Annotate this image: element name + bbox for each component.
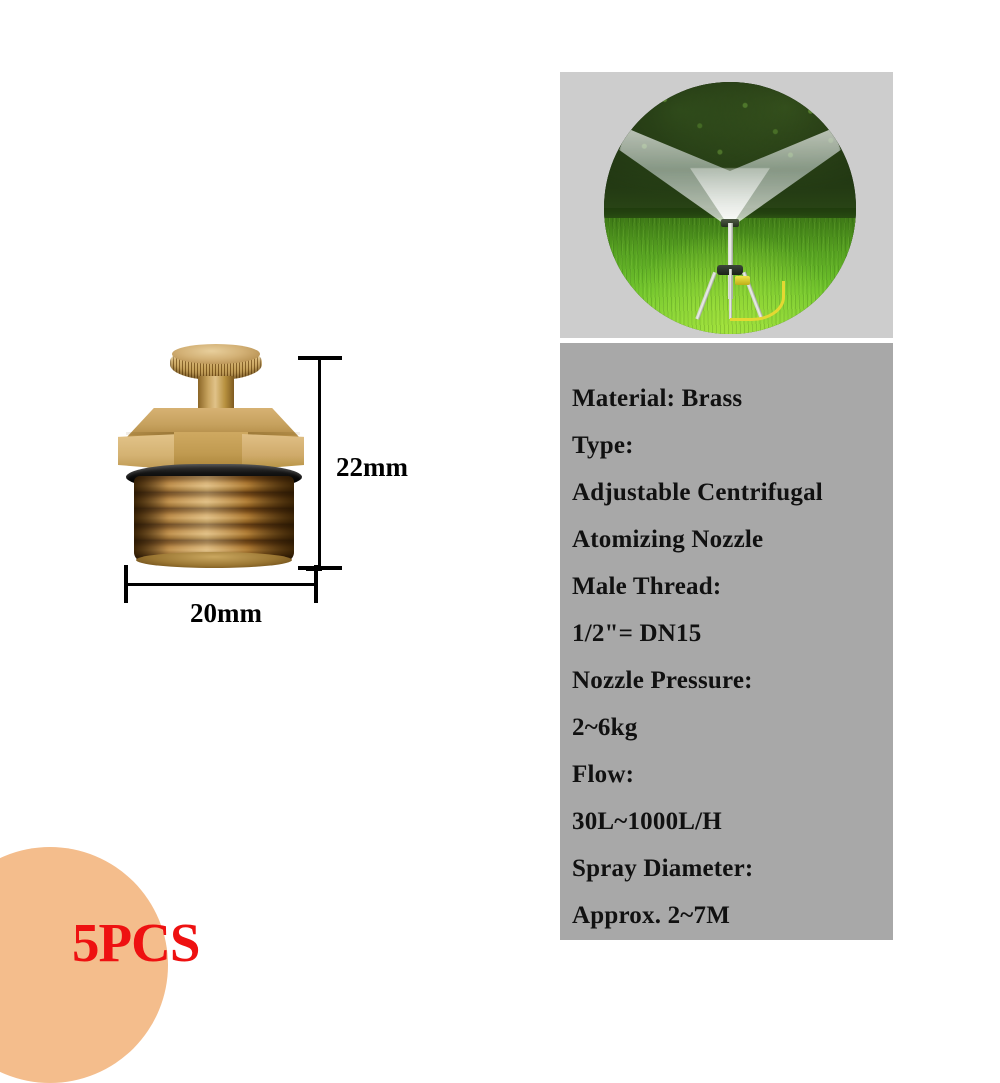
thread-bottom-face xyxy=(136,552,292,568)
male-thread-shank xyxy=(134,476,294,562)
spec-line: Atomizing Nozzle xyxy=(572,516,893,563)
product-photo-area: 22mm 20mm xyxy=(0,0,540,1000)
product-image-canvas: 22mm 20mm 5PCS Materia xyxy=(0,0,1000,1000)
spec-line: Approx. 2~7M xyxy=(572,892,893,939)
spec-line: Material: Brass xyxy=(572,375,893,422)
spec-line: Type: xyxy=(572,422,893,469)
sprinkler-lawn-photo xyxy=(604,82,856,334)
spec-line: Flow: xyxy=(572,751,893,798)
width-dimension-line xyxy=(126,583,318,586)
height-dimension-line xyxy=(318,358,321,570)
brass-nozzle-product-photo xyxy=(118,346,308,566)
spec-line: Adjustable Centrifugal xyxy=(572,469,893,516)
height-dimension-label: 22mm xyxy=(336,452,408,483)
hex-body xyxy=(118,408,308,472)
scene-photo-panel xyxy=(560,72,893,338)
hose-coupler xyxy=(735,276,750,285)
specification-panel: Material: Brass Type: Adjustable Centrif… xyxy=(560,343,893,940)
spec-line: 2~6kg xyxy=(572,704,893,751)
spec-line: Spray Diameter: xyxy=(572,845,893,892)
cap-top-surface xyxy=(172,344,260,364)
width-dimension-tick-right xyxy=(314,565,318,603)
spec-line: 30L~1000L/H xyxy=(572,798,893,845)
spec-line: 1/2"= DN15 xyxy=(572,610,893,657)
spec-line: Nozzle Pressure: xyxy=(572,657,893,704)
spec-line: Male Thread: xyxy=(572,563,893,610)
quantity-badge-label: 5PCS xyxy=(72,915,199,970)
width-dimension-label: 20mm xyxy=(190,598,262,629)
